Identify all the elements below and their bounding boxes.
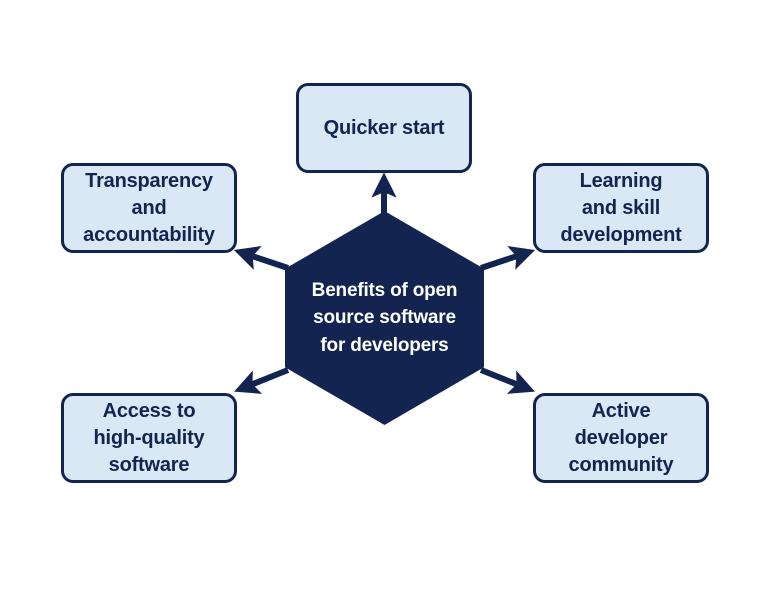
node-transparency-and-accountability-label: Transparency and accountability xyxy=(83,168,215,249)
node-learning-and-skill-development[interactable]: Learning and skill development xyxy=(533,163,709,253)
connector-to-learning-icon xyxy=(481,253,526,268)
node-quicker-start[interactable]: Quicker start xyxy=(296,83,472,173)
center-hexagon-node[interactable]: Benefits of open source software for dev… xyxy=(285,211,484,425)
connector-to-access-icon xyxy=(243,370,288,388)
center-hexagon-label: Benefits of open source software for dev… xyxy=(285,211,484,425)
node-active-developer-community-label: Active developer community xyxy=(569,398,674,479)
node-active-developer-community[interactable]: Active developer community xyxy=(533,393,709,483)
node-transparency-and-accountability[interactable]: Transparency and accountability xyxy=(61,163,237,253)
node-learning-and-skill-development-label: Learning and skill development xyxy=(560,168,681,249)
node-access-to-high-quality-software[interactable]: Access to high-quality software xyxy=(61,393,237,483)
node-access-to-high-quality-software-label: Access to high-quality software xyxy=(94,398,205,479)
connector-to-transparency-icon xyxy=(243,253,288,268)
connector-to-community-icon xyxy=(481,370,526,388)
diagram-canvas: Quicker start Transparency and accountab… xyxy=(0,0,768,600)
node-quicker-start-label: Quicker start xyxy=(324,115,445,142)
